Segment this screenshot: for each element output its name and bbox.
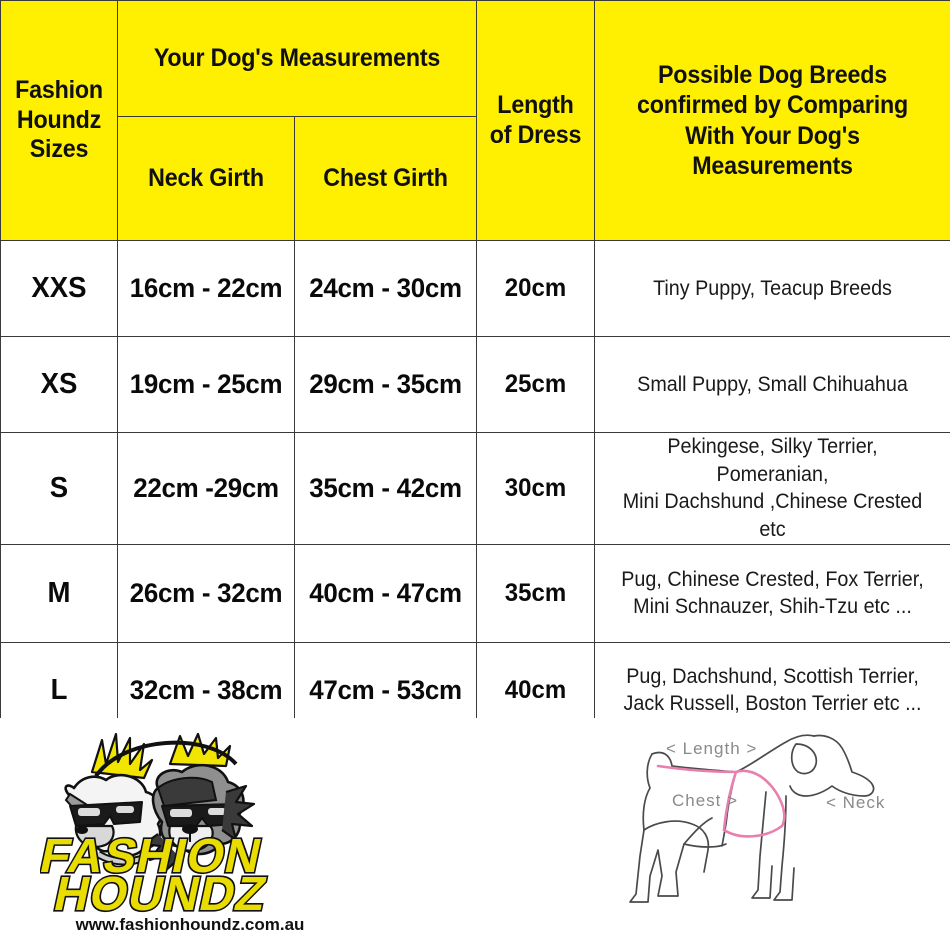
- cell-length: 25cm: [477, 337, 595, 433]
- neck-girth-value: 22cm -29cm: [122, 473, 291, 504]
- neck-girth-value: 26cm - 32cm: [122, 578, 291, 609]
- cell-neck-girth: 16cm - 22cm: [118, 241, 295, 337]
- length-value: 20cm: [479, 274, 591, 303]
- chest-girth-value: 35cm - 42cm: [299, 473, 473, 504]
- size-chart-page: Fashion Houndz Sizes Your Dog's Measurem…: [0, 0, 950, 942]
- header-cell-length: Length of Dress: [477, 1, 595, 241]
- header-length-line1: Length: [481, 91, 590, 121]
- length-label: < Length >: [666, 739, 757, 758]
- cell-breeds: Pug, Chinese Crested, Fox Terrier, Mini …: [595, 544, 950, 642]
- cell-size: S: [1, 433, 118, 545]
- header-breeds-line1: Possible Dog Breeds: [607, 60, 937, 91]
- cell-breeds: Pekingese, Silky Terrier, Pomeranian, Mi…: [595, 433, 950, 545]
- neck-girth-value: 32cm - 38cm: [122, 675, 291, 706]
- table-row: S 22cm -29cm 35cm - 42cm 30cm Pekingese,…: [1, 433, 950, 545]
- cell-chest-girth: 29cm - 35cm: [295, 337, 477, 433]
- breeds-line1: Pug, Dachshund, Scottish Terrier,: [613, 663, 932, 691]
- chest-girth-value: 47cm - 53cm: [299, 675, 473, 706]
- header-sizes-line3: Sizes: [5, 135, 113, 165]
- fashion-houndz-logo: FASHION HOUNDZ www.fashionhoundz.com.au: [40, 730, 340, 935]
- header-cell-neck-girth: Neck Girth: [118, 117, 295, 241]
- header-breeds-line3: With Your Dog's: [607, 121, 937, 152]
- cell-chest-girth: 40cm - 47cm: [295, 544, 477, 642]
- logo-wordmark-houndz: HOUNDZ: [49, 867, 272, 920]
- size-label: S: [4, 472, 114, 505]
- dog-measurement-diagram: < Length > Chest > < Neck: [600, 726, 945, 936]
- size-chart-table: Fashion Houndz Sizes Your Dog's Measurem…: [0, 0, 950, 739]
- chest-girth-value: 40cm - 47cm: [299, 578, 473, 609]
- table-row: M 26cm - 32cm 40cm - 47cm 35cm Pug, Chin…: [1, 544, 950, 642]
- header-cell-sizes: Fashion Houndz Sizes: [1, 1, 118, 241]
- breeds-line1: Pekingese, Silky Terrier, Pomeranian,: [613, 433, 932, 488]
- table-row: XS 19cm - 25cm 29cm - 35cm 25cm Small Pu…: [1, 337, 950, 433]
- logo-mohawk-icon: [170, 734, 230, 766]
- length-value: 35cm: [479, 579, 591, 608]
- header-cell-measurements-group: Your Dog's Measurements: [118, 1, 477, 117]
- header-cell-breeds: Possible Dog Breeds confirmed by Compari…: [595, 1, 950, 241]
- footer-area: FASHION HOUNDZ www.fashionhoundz.com.au: [0, 718, 950, 942]
- size-label: L: [4, 674, 114, 707]
- breeds-line2: Jack Russell, Boston Terrier etc ...: [613, 690, 932, 718]
- breeds-line2: Mini Schnauzer, Shih-Tzu etc ...: [613, 593, 932, 621]
- dog-outline-icon: [630, 735, 874, 902]
- cell-size: XS: [1, 337, 118, 433]
- cell-neck-girth: 22cm -29cm: [118, 433, 295, 545]
- cell-neck-girth: 26cm - 32cm: [118, 544, 295, 642]
- cell-size: M: [1, 544, 118, 642]
- header-length-line2: of Dress: [481, 121, 590, 151]
- size-label: M: [4, 577, 114, 610]
- header-sizes-line2: Houndz: [5, 106, 113, 136]
- cell-chest-girth: 24cm - 30cm: [295, 241, 477, 337]
- logo-houndz-text: HOUNDZ: [49, 867, 272, 920]
- header-breeds-line4: Measurements: [607, 151, 937, 182]
- breeds-line1: Tiny Puppy, Teacup Breeds: [613, 275, 932, 303]
- chest-label: Chest >: [672, 791, 738, 810]
- neck-girth-value: 16cm - 22cm: [122, 273, 291, 304]
- neck-girth-value: 19cm - 25cm: [122, 369, 291, 400]
- header-breeds-line2: confirmed by Comparing: [607, 90, 937, 121]
- logo-website-text: www.fashionhoundz.com.au: [75, 915, 305, 934]
- header-measurements-label: Your Dog's Measurements: [131, 44, 464, 74]
- cell-length: 20cm: [477, 241, 595, 337]
- header-chest-girth-label: Chest Girth: [301, 164, 469, 194]
- size-label: XS: [4, 368, 114, 401]
- breeds-line1: Small Puppy, Small Chihuahua: [613, 371, 932, 399]
- length-value: 30cm: [479, 474, 591, 503]
- cell-size: XXS: [1, 241, 118, 337]
- length-value: 40cm: [479, 676, 591, 705]
- header-row-top: Fashion Houndz Sizes Your Dog's Measurem…: [1, 1, 950, 117]
- chest-girth-value: 29cm - 35cm: [299, 369, 473, 400]
- cell-breeds: Small Puppy, Small Chihuahua: [595, 337, 950, 433]
- length-value: 25cm: [479, 370, 591, 399]
- breeds-line1: Pug, Chinese Crested, Fox Terrier,: [613, 566, 932, 594]
- cell-length: 35cm: [477, 544, 595, 642]
- header-neck-girth-label: Neck Girth: [124, 164, 288, 194]
- neck-label: < Neck: [826, 793, 885, 812]
- header-sizes-line1: Fashion: [5, 76, 113, 106]
- cell-breeds: Tiny Puppy, Teacup Breeds: [595, 241, 950, 337]
- chest-girth-value: 24cm - 30cm: [299, 273, 473, 304]
- breeds-line2: Mini Dachshund ,Chinese Crested etc: [613, 488, 932, 543]
- table-row: XXS 16cm - 22cm 24cm - 30cm 20cm Tiny Pu…: [1, 241, 950, 337]
- cell-chest-girth: 35cm - 42cm: [295, 433, 477, 545]
- header-cell-chest-girth: Chest Girth: [295, 117, 477, 241]
- cell-neck-girth: 19cm - 25cm: [118, 337, 295, 433]
- size-label: XXS: [4, 272, 114, 305]
- cell-length: 30cm: [477, 433, 595, 545]
